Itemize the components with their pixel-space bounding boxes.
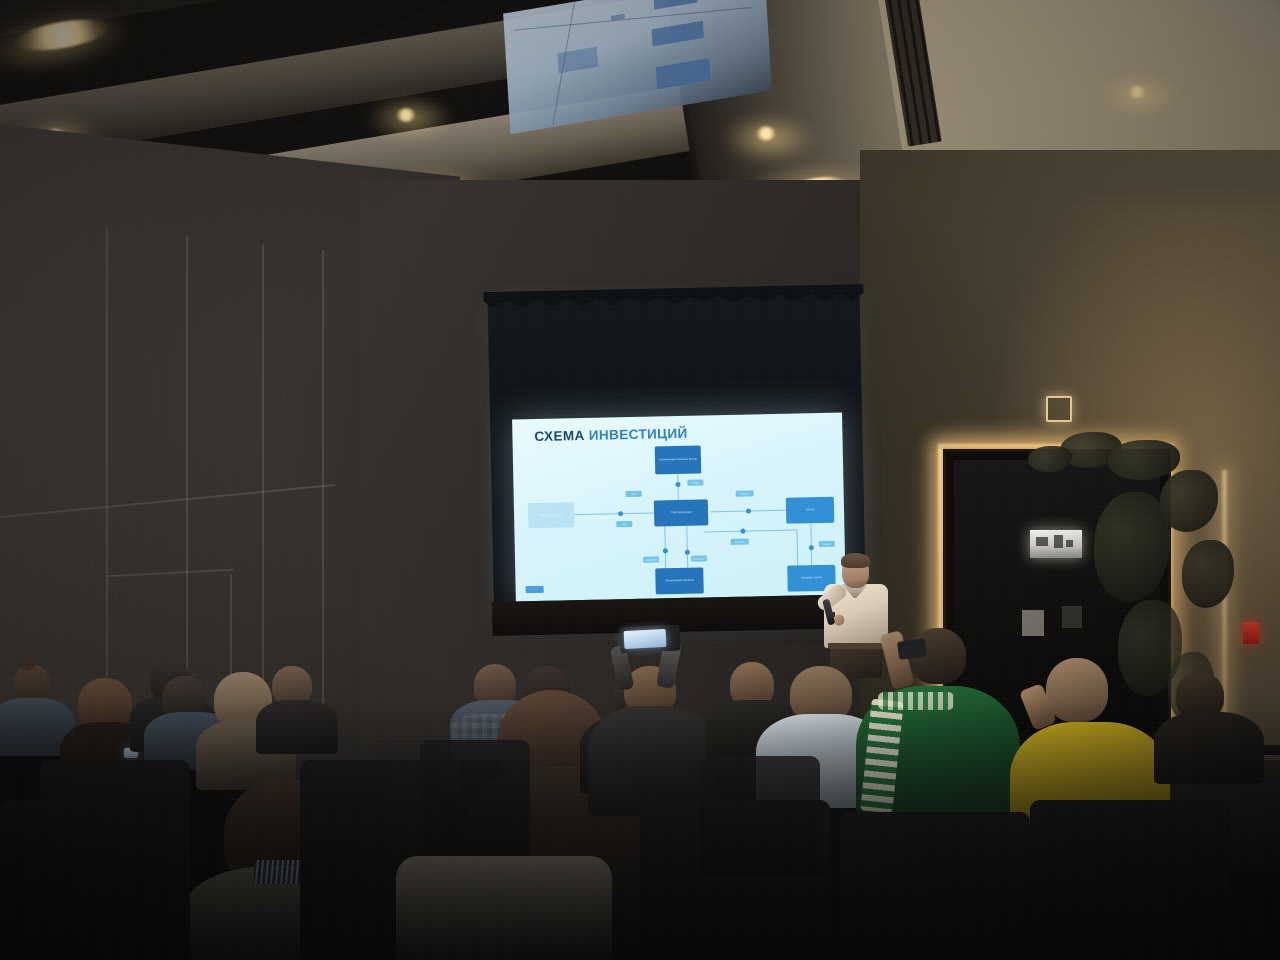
diagram-node: [663, 548, 668, 553]
diagram-node: [746, 508, 751, 513]
presentation-slide: СХЕМА ИНВЕСТИЦИЙ Управляющая компания фо…: [512, 413, 846, 602]
head: [1046, 658, 1108, 722]
slide-logo: [526, 586, 544, 593]
auditorium-seat: [420, 740, 530, 860]
diagram-chip: управление: [643, 556, 659, 562]
diagram-edge: [704, 530, 796, 533]
ceiling-light-wash: [1102, 74, 1178, 116]
phone-screen[interactable]: [624, 629, 667, 649]
diagram-node: [685, 550, 690, 555]
diagram-chip: пай: [616, 521, 632, 527]
diagram-chip: доход: [819, 541, 835, 547]
diagram-edge: [796, 529, 798, 567]
camera-device[interactable]: [897, 638, 927, 660]
diagram-box-right: Объект: [786, 497, 835, 524]
varsity-collar-trim: [878, 692, 954, 710]
diagram-chip: покупка: [736, 490, 754, 496]
diagram-box-center: Структура фонда: [654, 499, 709, 526]
alcove-paper-sign: [1062, 606, 1082, 628]
diagram-node: [618, 511, 623, 516]
diagram-edge: [686, 526, 688, 570]
beige-chair-back: [396, 856, 612, 960]
square-wall-sconce-icon: [1046, 396, 1072, 422]
diagram-box-top: Управляющая компания фонда: [655, 446, 702, 475]
slide-title-word-1: СХЕМА: [534, 428, 585, 444]
ceiling-light-wash: [724, 114, 814, 162]
conference-hall-photo: СХЕМА ИНВЕСТИЦИЙ Управляющая компания фо…: [0, 0, 1280, 960]
shoulders: [256, 700, 338, 754]
auditorium-seat: [700, 756, 820, 876]
diagram-box-left: Инвестор вкладчик: [528, 502, 575, 528]
diagram-node: [675, 482, 680, 487]
presenter-watch: [826, 612, 835, 617]
presenter-hair: [841, 553, 870, 568]
wall-panel-seam: [262, 244, 264, 714]
ceiling-light-wash: [368, 96, 452, 140]
presenter-belt: [828, 643, 884, 649]
wall-panel-seam: [186, 236, 188, 706]
red-exit-sign-icon: [1243, 622, 1259, 644]
diagram-chip: выплата: [731, 539, 749, 545]
alcove-paper-sign: [1022, 610, 1044, 636]
diagram-chip: управление: [691, 555, 707, 561]
hair-bun: [20, 656, 36, 670]
shoulders: [1154, 712, 1264, 784]
slide-title: СХЕМА ИНВЕСТИЦИЙ: [534, 426, 688, 444]
auditorium-seat: [840, 812, 1030, 960]
projection-screen: СХЕМА ИНВЕСТИЦИЙ Управляющая компания фо…: [488, 292, 867, 632]
diagram-box-bottom-center: Управляющая компания: [655, 567, 704, 594]
small-bright-display: [1030, 530, 1082, 558]
auditorium-seat: [1030, 800, 1230, 960]
diagram-node: [809, 545, 814, 550]
slide-title-word-2: ИНВЕСТИЦИЙ: [589, 426, 688, 443]
wall-panel-seam: [106, 228, 108, 698]
diagram-node: [740, 529, 745, 534]
diagram-edge: [710, 510, 794, 513]
diagram-chip: вклад: [687, 479, 703, 485]
auditorium-seat: [0, 800, 120, 960]
diagram-chip: пай: [626, 491, 642, 497]
